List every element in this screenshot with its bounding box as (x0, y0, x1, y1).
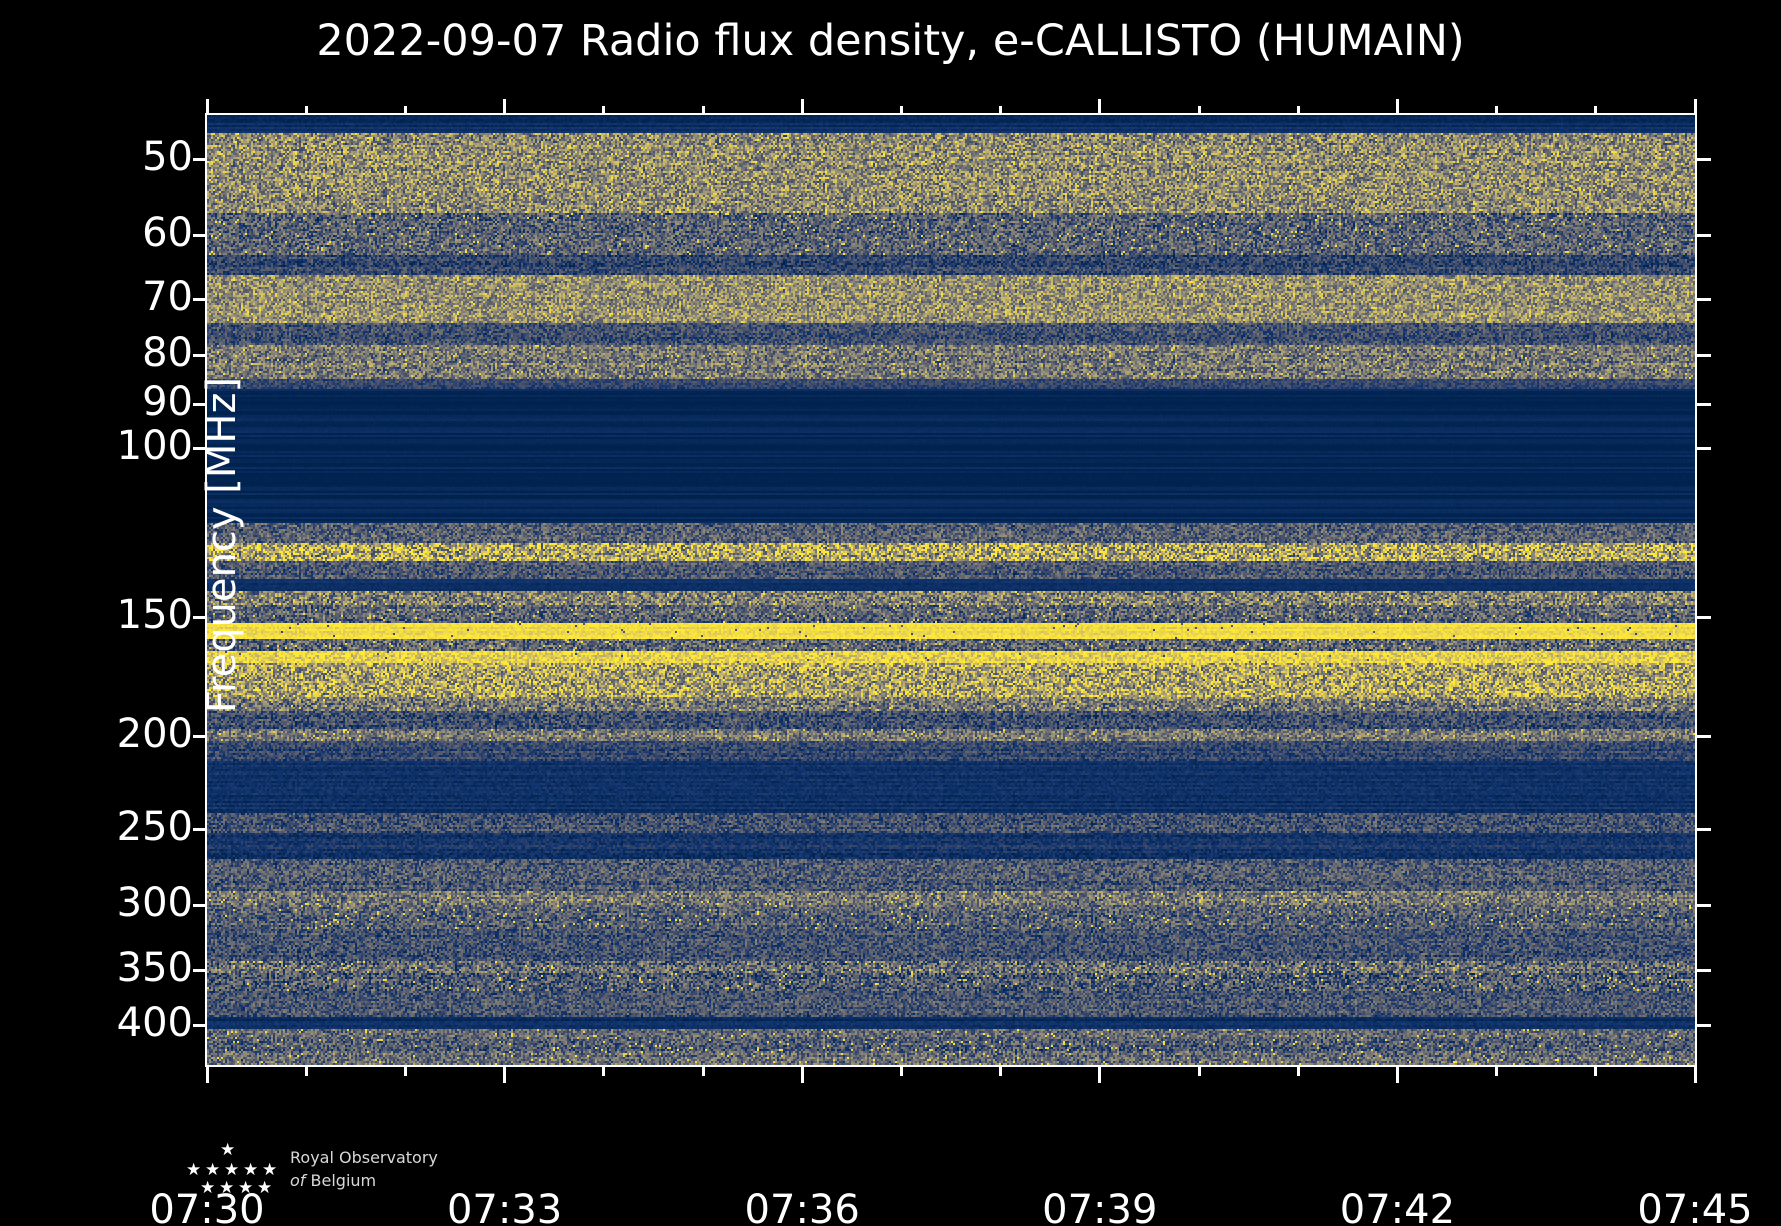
logo-belgium: Belgium (311, 1171, 377, 1190)
figure-root: 2022-09-07 Radio flux density, e-CALLIST… (0, 0, 1781, 1226)
star-icon: ★ (257, 1180, 272, 1197)
y-tick-60 (193, 234, 207, 237)
star-icon: ★ (262, 1162, 277, 1179)
x-tick-top-14 (1594, 106, 1597, 115)
x-tick-top-13 (1495, 106, 1498, 115)
y-tick-label-250: 250 (117, 807, 193, 847)
star-icon: ★ (224, 1162, 239, 1179)
y-tick-250 (193, 828, 207, 831)
x-tick-top-6 (801, 99, 804, 115)
eu-stars-icon: ★★★★★★★★★★ (180, 1140, 276, 1198)
x-tick-top-15 (1694, 99, 1697, 115)
y-axis-title: Frequency [MHz] (199, 377, 245, 713)
x-tick-top-10 (1198, 106, 1201, 115)
x-tick-top-8 (999, 106, 1002, 115)
x-tick-top-2 (404, 106, 407, 115)
y-tick-right-350 (1697, 969, 1711, 972)
x-tick-top-11 (1297, 106, 1300, 115)
y-tick-300 (193, 904, 207, 907)
y-tick-right-250 (1697, 828, 1711, 831)
x-tick-8 (999, 1067, 1002, 1076)
y-tick-200 (193, 735, 207, 738)
y-tick-50 (193, 158, 207, 161)
logo-of: of (290, 1171, 305, 1190)
star-icon: ★ (220, 1142, 235, 1159)
y-tick-label-200: 200 (117, 714, 193, 754)
y-tick-70 (193, 298, 207, 301)
x-tick-top-7 (900, 106, 903, 115)
royal-observatory-logo: ★★★★★★★★★★ Royal Observatory of Belgium (180, 1140, 438, 1198)
x-tick-top-1 (305, 106, 308, 115)
y-tick-right-70 (1697, 298, 1711, 301)
y-tick-right-300 (1697, 904, 1711, 907)
x-tick-5 (702, 1067, 705, 1076)
spectrogram-plot[interactable]: 5060708090100150200250300350400 07:3007:… (205, 113, 1697, 1067)
x-tick-6 (801, 1067, 804, 1083)
x-tick-top-0 (206, 99, 209, 115)
x-tick-12 (1396, 1067, 1399, 1083)
logo-line-1: Royal Observatory (290, 1148, 438, 1167)
x-tick-label-2: 07:36 (745, 1190, 860, 1226)
y-tick-label-350: 350 (117, 948, 193, 988)
x-tick-top-9 (1098, 99, 1101, 115)
x-tick-13 (1495, 1067, 1498, 1076)
x-tick-11 (1297, 1067, 1300, 1076)
y-tick-right-80 (1697, 354, 1711, 357)
x-tick-top-3 (503, 99, 506, 115)
star-icon: ★ (205, 1162, 220, 1179)
x-tick-label-1: 07:33 (447, 1190, 562, 1226)
x-tick-3 (503, 1067, 506, 1083)
y-tick-label-70: 70 (142, 277, 193, 317)
logo-text: Royal Observatory of Belgium (290, 1146, 438, 1192)
y-tick-350 (193, 969, 207, 972)
y-tick-label-300: 300 (117, 883, 193, 923)
star-icon: ★ (243, 1162, 258, 1179)
y-tick-label-400: 400 (117, 1003, 193, 1043)
y-tick-label-150: 150 (117, 595, 193, 635)
y-tick-right-90 (1697, 403, 1711, 406)
y-tick-label-50: 50 (142, 137, 193, 177)
x-tick-label-4: 07:42 (1340, 1190, 1455, 1226)
star-icon: ★ (186, 1162, 201, 1179)
star-icon: ★ (200, 1180, 215, 1197)
x-tick-1 (305, 1067, 308, 1076)
y-tick-label-80: 80 (142, 333, 193, 373)
page-title: 2022-09-07 Radio flux density, e-CALLIST… (0, 16, 1781, 66)
x-tick-top-12 (1396, 99, 1399, 115)
x-tick-0 (206, 1067, 209, 1083)
x-tick-9 (1098, 1067, 1101, 1083)
y-tick-right-60 (1697, 234, 1711, 237)
x-tick-4 (602, 1067, 605, 1076)
y-tick-80 (193, 354, 207, 357)
y-tick-label-100: 100 (117, 426, 193, 466)
y-tick-right-50 (1697, 158, 1711, 161)
y-tick-label-60: 60 (142, 213, 193, 253)
x-tick-2 (404, 1067, 407, 1076)
y-tick-right-100 (1697, 447, 1711, 450)
x-tick-14 (1594, 1067, 1597, 1076)
spectrogram-image (207, 115, 1695, 1065)
x-tick-label-5: 07:45 (1637, 1190, 1752, 1226)
x-tick-10 (1198, 1067, 1201, 1076)
y-tick-right-200 (1697, 735, 1711, 738)
y-tick-right-400 (1697, 1024, 1711, 1027)
x-tick-top-4 (602, 106, 605, 115)
x-tick-7 (900, 1067, 903, 1076)
star-icon: ★ (238, 1180, 253, 1197)
y-tick-label-90: 90 (142, 382, 193, 422)
y-tick-400 (193, 1024, 207, 1027)
logo-line-2: of Belgium (290, 1169, 438, 1192)
x-tick-15 (1694, 1067, 1697, 1083)
x-tick-top-5 (702, 106, 705, 115)
y-tick-right-150 (1697, 616, 1711, 619)
x-tick-label-3: 07:39 (1042, 1190, 1157, 1226)
star-icon: ★ (219, 1180, 234, 1197)
